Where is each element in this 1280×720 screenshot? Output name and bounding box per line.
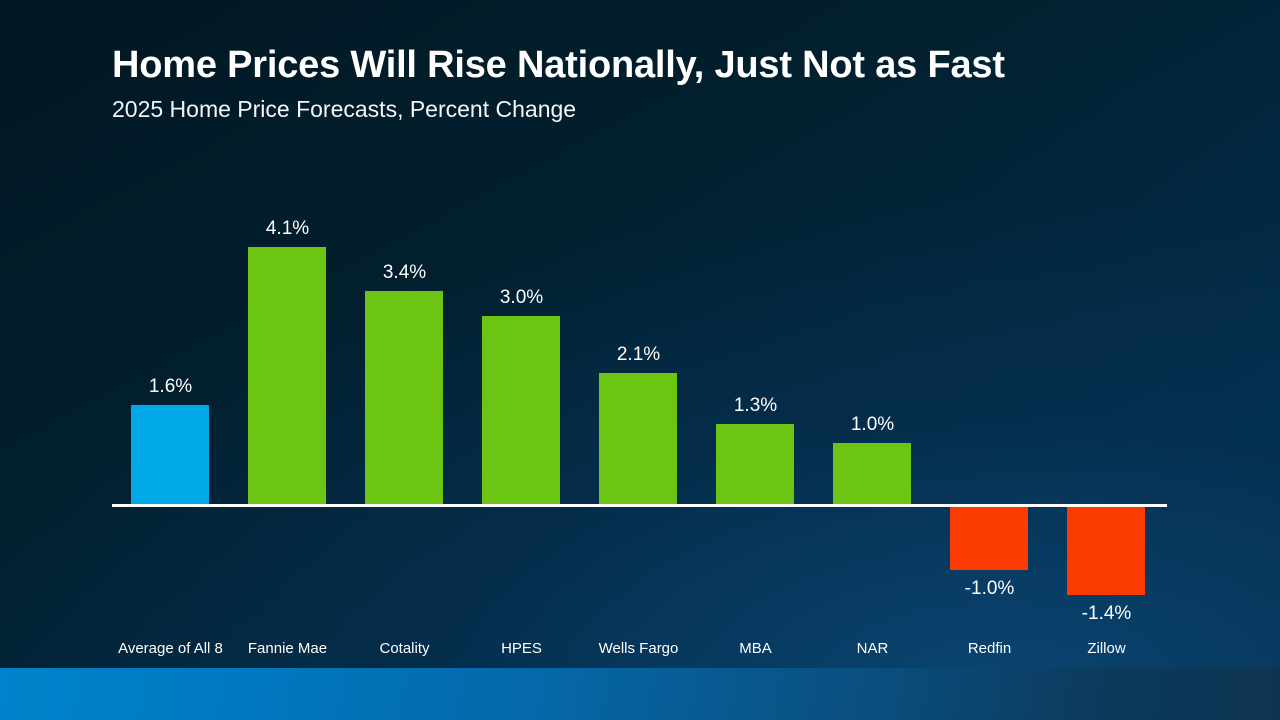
category-label: NAR: [814, 641, 931, 656]
bar[interactable]: [248, 247, 326, 506]
bar-value-label: 3.4%: [346, 263, 463, 282]
bar[interactable]: [950, 507, 1028, 570]
bar-chart-plot-area: 1.6%Average of All 84.1%Fannie Mae3.4%Co…: [0, 0, 1280, 720]
bar-group: -1.4%Zillow: [1048, 0, 1165, 720]
zero-baseline: [112, 504, 1167, 507]
bar-group: 3.0%HPES: [463, 0, 580, 720]
bar-group: 1.0%NAR: [814, 0, 931, 720]
category-label: Cotality: [346, 641, 463, 656]
bar[interactable]: [716, 424, 794, 506]
category-label: Redfin: [931, 641, 1048, 656]
bar-value-label: -1.0%: [931, 579, 1048, 598]
bottom-accent-bar: [0, 668, 1280, 720]
bar-group: 1.3%MBA: [697, 0, 814, 720]
bar[interactable]: [1067, 507, 1145, 595]
category-label: Fannie Mae: [229, 641, 346, 656]
bar[interactable]: [365, 291, 443, 506]
bar-value-label: 1.6%: [112, 377, 229, 396]
category-label: MBA: [697, 641, 814, 656]
bar-value-label: 1.3%: [697, 396, 814, 415]
category-label: Zillow: [1048, 641, 1165, 656]
bar[interactable]: [599, 373, 677, 506]
bar-value-label: -1.4%: [1048, 604, 1165, 623]
bar-group: 1.6%Average of All 8: [112, 0, 229, 720]
bar-group: 3.4%Cotality: [346, 0, 463, 720]
bar[interactable]: [131, 405, 209, 506]
bar-group: 4.1%Fannie Mae: [229, 0, 346, 720]
bar[interactable]: [482, 316, 560, 506]
category-label: HPES: [463, 641, 580, 656]
bar-group: -1.0%Redfin: [931, 0, 1048, 720]
category-label: Average of All 8: [112, 641, 229, 656]
bar-value-label: 3.0%: [463, 288, 580, 307]
bar-value-label: 2.1%: [580, 345, 697, 364]
bar-value-label: 1.0%: [814, 415, 931, 434]
bar-group: 2.1%Wells Fargo: [580, 0, 697, 720]
bar[interactable]: [833, 443, 911, 506]
category-label: Wells Fargo: [580, 641, 697, 656]
slide-canvas: Home Prices Will Rise Nationally, Just N…: [0, 0, 1280, 720]
bar-value-label: 4.1%: [229, 219, 346, 238]
